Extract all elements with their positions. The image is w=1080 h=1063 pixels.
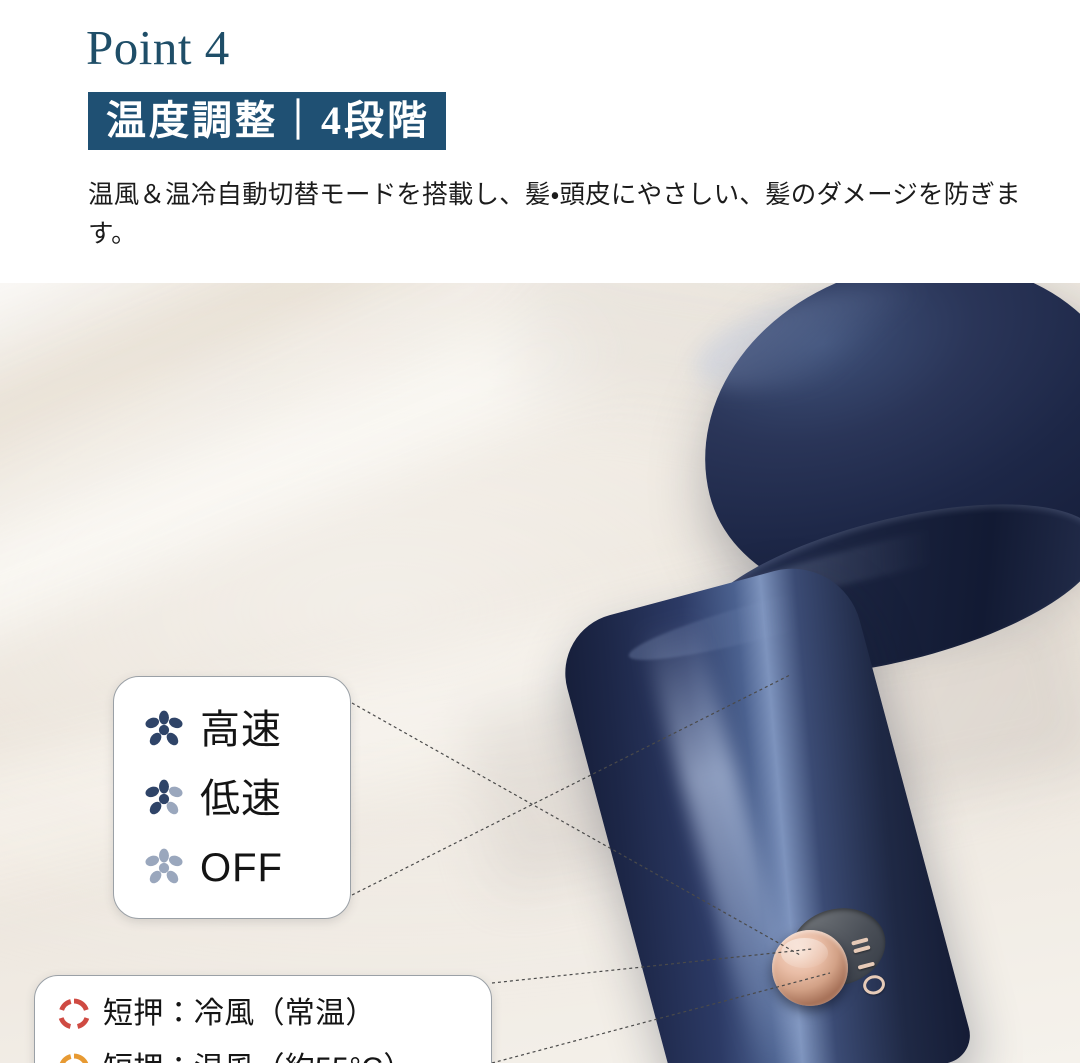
list-item-label: 短押：温風（約55°C） [103, 1052, 414, 1063]
ring-icon-cool [57, 997, 91, 1031]
headline-banner: 温度調整｜4段階 [88, 92, 446, 150]
headline-text: 温度調整｜4段階 [106, 99, 430, 143]
fan-speed-legend-card: 高速 低速 [113, 676, 351, 919]
fan-icon-off [142, 846, 186, 890]
fan-icon-high [142, 708, 186, 752]
speed-mark-one-icon [858, 962, 875, 970]
speed-mark-two-icon [853, 945, 870, 953]
list-item: 低速 [114, 764, 350, 833]
page-title: Point 4 [86, 20, 230, 76]
speed-switch-knob[interactable] [772, 930, 848, 1006]
ring-icon-warm [57, 1052, 91, 1063]
fan-icon-low [142, 777, 186, 821]
hair-dryer [0, 283, 1080, 1063]
list-item-label: 低速 [200, 777, 282, 821]
header-section: Point 4 温度調整｜4段階 温風＆温冷自動切替モードを搭載し、髪・頭皮にや… [0, 0, 1080, 283]
list-item-label: OFF [200, 846, 283, 890]
list-item: 短押：温風（約55°C） [35, 1041, 491, 1063]
list-item-label: 高速 [200, 708, 282, 752]
list-item: 短押：冷風（常温） [35, 986, 491, 1041]
list-item: 高速 [114, 695, 350, 764]
list-item: OFF [114, 833, 350, 902]
page-root: Point 4 温度調整｜4段階 温風＆温冷自動切替モードを搭載し、髪・頭皮にや… [0, 0, 1080, 1063]
temperature-legend-card: 短押：冷風（常温） 短押：温風（約55°C） [34, 975, 492, 1063]
product-photo-stage: 高速 低速 [0, 283, 1080, 1063]
lead-paragraph: 温風＆温冷自動切替モードを搭載し、髪・頭皮にやさしい、髪のダメージを防ぎます。 [88, 176, 1048, 254]
list-item-label: 短押：冷風（常温） [103, 997, 376, 1031]
